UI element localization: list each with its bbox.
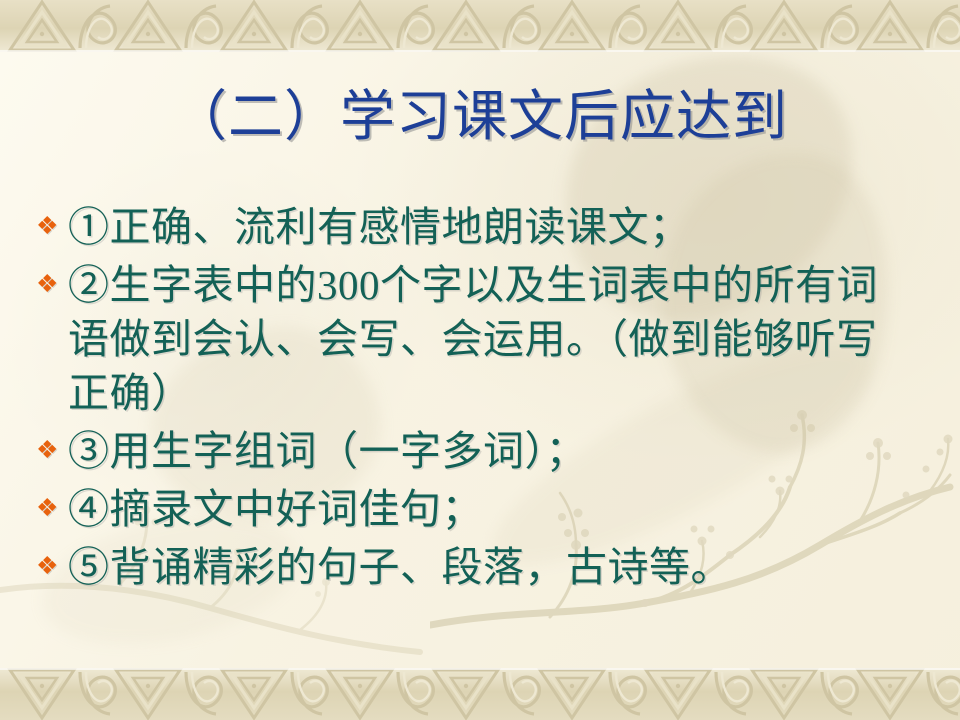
presentation-slide: （二）学习课文后应达到 ❖ ①正确、流利有感情地朗读课文； ❖ ②生字表中的30… [0,0,960,720]
list-item-text: ⑤背诵精彩的句子、段落，古诗等。 [68,540,936,594]
list-item: ❖ ②生字表中的300个字以及生词表中的所有词语做到会认、会写、会运用。（做到能… [36,258,936,420]
list-item-text: ③用生字组词（一字多词）； [68,424,936,478]
bullet-diamond-icon: ❖ [36,482,68,536]
slide-title: （二）学习课文后应达到 [0,88,960,146]
bullet-diamond-icon: ❖ [36,200,68,254]
list-item: ❖ ③用生字组词（一字多词）； [36,424,936,478]
list-item-text: ①正确、流利有感情地朗读课文； [68,200,936,254]
bullet-diamond-icon: ❖ [36,258,68,312]
bottom-border-edge [0,668,960,670]
top-border-edge [0,50,960,52]
bullet-diamond-icon: ❖ [36,540,68,594]
bottom-decorative-border [0,668,960,720]
list-item: ❖ ⑤背诵精彩的句子、段落，古诗等。 [36,540,936,594]
bullet-diamond-icon: ❖ [36,424,68,478]
top-decorative-border [0,0,960,52]
list-item: ❖ ④摘录文中好词佳句； [36,482,936,536]
list-item: ❖ ①正确、流利有感情地朗读课文； [36,200,936,254]
top-border-pattern-icon [0,0,960,52]
list-item-text: ②生字表中的300个字以及生词表中的所有词语做到会认、会写、会运用。（做到能够听… [68,258,906,420]
bottom-border-pattern-icon [0,668,960,720]
list-item-text: ④摘录文中好词佳句； [68,482,936,536]
bullet-list: ❖ ①正确、流利有感情地朗读课文； ❖ ②生字表中的300个字以及生词表中的所有… [36,200,936,598]
